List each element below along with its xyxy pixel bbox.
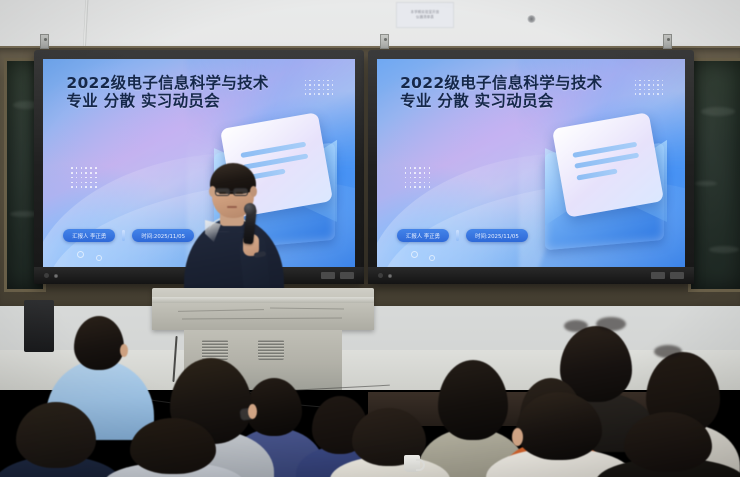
ir-sensor-icon (388, 274, 392, 278)
audience-head (16, 402, 96, 468)
wall-sign-line-2: 仪器清单表 (416, 16, 434, 19)
envelope-document-card (552, 112, 664, 217)
wall-smudge (527, 15, 536, 23)
date-pill: 时间:2025/11/05 (466, 229, 528, 242)
power-button[interactable] (378, 273, 383, 278)
usb-port[interactable] (321, 272, 335, 279)
speaker-ear-right (250, 186, 257, 197)
date-pill-label: 时间:2025/11/05 (475, 232, 519, 240)
slide-title-line-1: 2022级电子信息科学与技术 (400, 74, 659, 93)
speaker (182, 160, 286, 305)
right-display-control-bar[interactable] (368, 267, 694, 284)
speaker-glasses-bridge (229, 191, 234, 192)
audience-ear (512, 428, 523, 446)
microphone-head-icon (244, 203, 256, 215)
slide-title: 2022级电子信息科学与技术 专业 分散 实习动员会 (400, 74, 659, 112)
presenter-pill: 汇报人 李正勇 (397, 229, 449, 242)
envelope-icon (537, 128, 673, 253)
right-lcd-display[interactable]: 2022级电子信息科学与技术 专业 分散 实习动员会 汇报人 李正勇 时间:20… (368, 50, 694, 284)
lectern-top (152, 288, 374, 330)
usb-port[interactable] (651, 272, 665, 279)
audience-head (130, 418, 216, 474)
slide-title-line-2: 专业 分散 实习动员会 (66, 92, 328, 111)
presenter-pill: 汇报人 李正勇 (63, 229, 115, 242)
mount-bracket (663, 34, 672, 49)
speaker-eye-left (219, 192, 226, 194)
gear-icon (77, 251, 84, 258)
pill-divider (456, 230, 459, 241)
slide-meta-pills: 汇报人 李正勇 时间:2025/11/05 (63, 229, 194, 242)
presenter-pill-label: 汇报人 李正勇 (406, 232, 440, 240)
gear-icon (96, 255, 102, 261)
pill-divider (122, 230, 125, 241)
lectern-vent-grille (202, 340, 228, 360)
mount-bracket (380, 34, 389, 49)
chalkboard-right (688, 58, 740, 292)
audience-head (624, 412, 712, 472)
ir-sensor-icon (54, 274, 58, 278)
wall-sign-line-1: 本学期实验室开放 (411, 11, 440, 14)
slide-title-line-2: 专业 分散 实习动员会 (400, 92, 659, 111)
right-slide-canvas: 2022级电子信息科学与技术 专业 分散 实习动员会 汇报人 李正勇 时间:20… (377, 59, 685, 267)
wall-sign: 本学期实验室开放 仪器清单表 (396, 2, 454, 28)
hdmi-port[interactable] (670, 272, 684, 279)
speaker-eye-right (236, 192, 243, 194)
hdmi-port[interactable] (340, 272, 354, 279)
audience-ear (248, 404, 257, 419)
presenter-pill-label: 汇报人 李正勇 (72, 232, 106, 240)
audience-member (596, 412, 740, 477)
slide-title: 2022级电子信息科学与技术 专业 分散 实习动员会 (66, 74, 328, 112)
paper-cup (404, 455, 420, 472)
audience-head (74, 316, 124, 370)
slide-dot-grid (405, 167, 431, 188)
slide-dot-grid (71, 167, 97, 188)
power-button[interactable] (44, 273, 49, 278)
audience-member (104, 418, 244, 477)
slide-meta-pills: 汇报人 李正勇 时间:2025/11/05 (397, 229, 528, 242)
classroom-presentation-photo: 本学期实验室开放 仪器清单表 (0, 0, 740, 477)
mount-bracket (40, 34, 49, 49)
slide-title-line-1: 2022级电子信息科学与技术 (66, 74, 328, 93)
lectern-vent-grille (258, 340, 284, 360)
audience-head (516, 392, 602, 460)
audience-member (330, 408, 450, 477)
date-pill-label: 时间:2025/11/05 (141, 232, 185, 240)
gear-icon (411, 251, 418, 258)
speaker-mouth (227, 206, 237, 208)
audience-ear (120, 344, 128, 357)
